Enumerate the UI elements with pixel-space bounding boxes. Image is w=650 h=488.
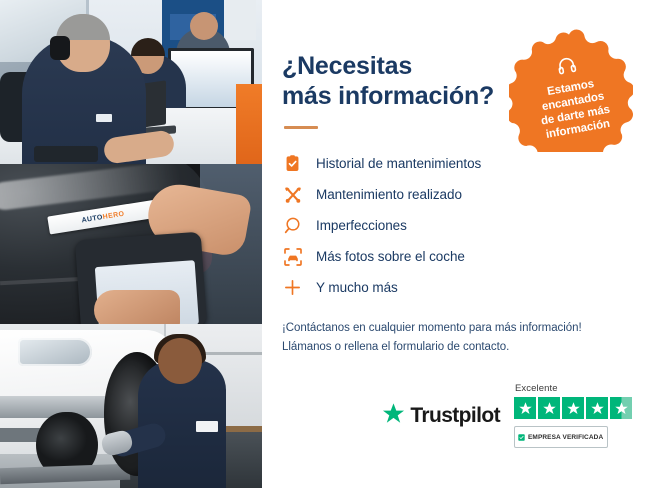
feature-label: Más fotos sobre el coche (316, 249, 465, 264)
inspector-hand-lower (94, 290, 180, 324)
contact-line-1: ¡Contáctanos en cualquier momento para m… (282, 319, 626, 338)
headset-icon (555, 54, 579, 82)
title-underline-divider (284, 126, 318, 129)
feature-label: Y mucho más (316, 280, 398, 295)
star-filled-4 (586, 397, 608, 419)
clipboard-check-icon (282, 153, 303, 174)
mechanic-head (158, 338, 202, 384)
feature-label: Historial de mantenimientos (316, 156, 481, 171)
mechanic-logo-patch (196, 421, 218, 432)
trustpilot-star-icon (382, 402, 405, 430)
feature-item-more-car-photos: Más fotos sobre el coche (282, 241, 626, 272)
feature-item-maintenance-history: Historial de mantenimientos (282, 148, 626, 179)
tools-cross-icon (282, 184, 303, 205)
photo-car-inspection-ruler: AUTOHERO (0, 164, 262, 324)
magnifier-icon (282, 215, 303, 236)
wall-panel (226, 0, 256, 40)
star-rating (514, 397, 632, 419)
photo-column: AUTOHERO (0, 0, 262, 488)
car-photo-frame-icon (282, 246, 303, 267)
badge-content: Estamos encantados de darte más informac… (499, 18, 643, 162)
feature-item-imperfections: Imperfecciones (282, 210, 626, 241)
contact-text: ¡Contáctanos en cualquier momento para m… (282, 319, 626, 356)
content-panel: ¿Necesitas más información? Historial de… (262, 0, 650, 488)
photo-call-center-agents (0, 0, 262, 164)
feature-list: Historial de mantenimientos M (282, 148, 626, 303)
agent-background-head (190, 12, 218, 40)
headline-line-2: más información? (282, 82, 512, 112)
feature-label: Imperfecciones (316, 218, 407, 233)
agent-headset (50, 36, 70, 60)
trustpilot-widget[interactable]: Trustpilot Excelente (382, 383, 632, 448)
verified-label: EMPRESA VERIFICADA (528, 434, 603, 441)
feature-item-much-more: Y mucho más (282, 272, 626, 303)
trustpilot-rating: Excelente (514, 383, 632, 448)
car-headlight (18, 338, 92, 366)
star-filled-1 (514, 397, 536, 419)
verified-business-badge: EMPRESA VERIFICADA (514, 426, 608, 448)
trustpilot-wordmark: Trustpilot (410, 404, 500, 428)
ruler-brand-text: AUTOHERO (81, 210, 125, 224)
promo-badge: Estamos encantados de darte más informac… (509, 28, 633, 152)
badge-text: Estamos encantados de darte más informac… (522, 73, 626, 145)
feature-label: Mantenimiento realizado (316, 187, 462, 202)
trustpilot-logo[interactable]: Trustpilot (382, 402, 500, 430)
orange-accent-object (236, 84, 262, 164)
star-half-5 (610, 397, 632, 419)
agent-name-badge (96, 114, 112, 122)
headline-line-1: ¿Necesitas (282, 52, 512, 82)
photo-mechanic-wheel-check (0, 324, 262, 488)
desk-tablet (34, 146, 98, 162)
star-filled-2 (538, 397, 560, 419)
rating-label: Excelente (515, 383, 558, 394)
feature-item-maintenance-performed: Mantenimiento realizado (282, 179, 626, 210)
contact-line-2: Llámanos o rellena el formulario de cont… (282, 338, 626, 357)
verified-check-icon (518, 428, 525, 446)
star-filled-3 (562, 397, 584, 419)
information-banner: AUTOHERO (0, 0, 650, 488)
plus-icon (282, 277, 303, 298)
page-title: ¿Necesitas más información? (282, 52, 512, 111)
